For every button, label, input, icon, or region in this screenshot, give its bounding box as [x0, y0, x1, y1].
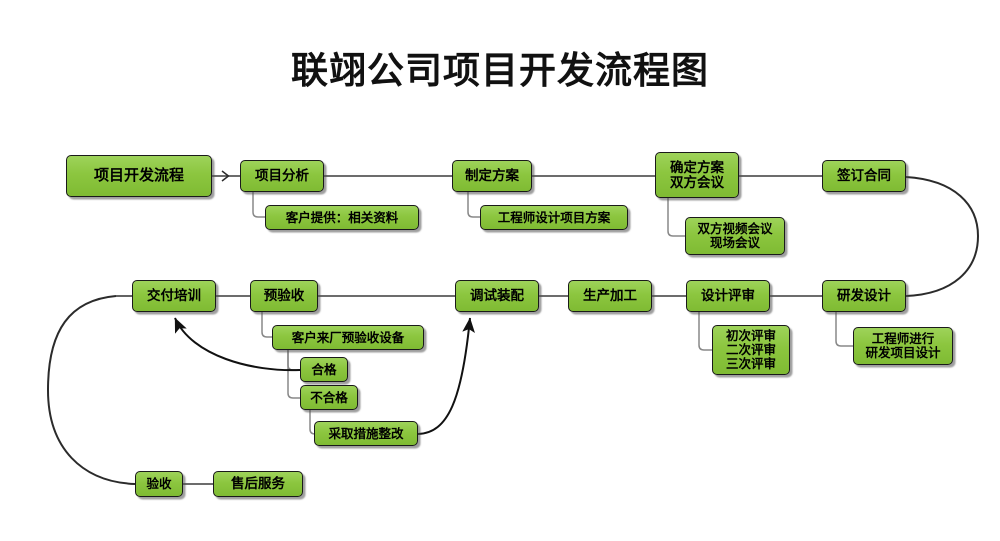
edge-plan-to-sub [468, 192, 480, 217]
node-after-sales-service[interactable]: 售后服务 [213, 471, 303, 497]
node-pass[interactable]: 合格 [300, 357, 348, 382]
node-take-corrective-measures[interactable]: 采取措施整改 [314, 421, 418, 446]
node-delivery-training[interactable]: 交付培训 [132, 280, 216, 312]
node-pre-acceptance[interactable]: 预验收 [250, 280, 318, 312]
node-rd-design[interactable]: 研发设计 [822, 280, 906, 312]
edge-sub-to-fail [288, 350, 300, 398]
edge-delivery-to-accept [48, 296, 135, 484]
connector-layer [0, 0, 1000, 541]
edge-analysis-to-sub [253, 192, 265, 217]
edge-preaccept-to-sub [262, 312, 272, 337]
node-review-rounds[interactable]: 初次评审 二次评审 三次评审 [712, 325, 790, 375]
node-confirm-plan-bilateral-meeting[interactable]: 确定方案 双方会议 [655, 152, 739, 198]
node-customer-onsite-pre-acceptance[interactable]: 客户来厂预验收设备 [272, 325, 424, 350]
node-formulate-plan[interactable]: 制定方案 [452, 160, 532, 192]
edge-rectify-to-assemble [418, 318, 470, 434]
node-design-review[interactable]: 设计评审 [686, 280, 770, 312]
flowchart-canvas: 联翊公司项目开发流程图 [0, 0, 1000, 541]
node-fail[interactable]: 不合格 [300, 385, 358, 410]
node-production-processing[interactable]: 生产加工 [568, 280, 652, 312]
node-acceptance[interactable]: 验收 [135, 471, 183, 497]
node-video-and-onsite-meeting[interactable]: 双方视频会议 现场会议 [685, 217, 785, 255]
edge-sub-to-pass [288, 350, 300, 370]
edge-review-to-sub [699, 312, 712, 350]
node-debug-assembly[interactable]: 调试装配 [455, 280, 539, 312]
node-engineer-rd-project-design[interactable]: 工程师进行 研发项目设计 [853, 327, 953, 365]
edge-rd-to-sub [836, 312, 853, 346]
node-customer-provides-materials[interactable]: 客户提供：相关资料 [265, 205, 419, 230]
edge-start-to-analysis [212, 171, 240, 181]
edge-confirm-to-sub [668, 198, 685, 236]
node-engineer-designs-plan[interactable]: 工程师设计项目方案 [480, 205, 628, 230]
node-sign-contract[interactable]: 签订合同 [822, 160, 906, 192]
edge-contract-to-rd [906, 177, 978, 296]
node-project-development-process[interactable]: 项目开发流程 [66, 155, 212, 197]
node-project-analysis[interactable]: 项目分析 [240, 160, 324, 192]
